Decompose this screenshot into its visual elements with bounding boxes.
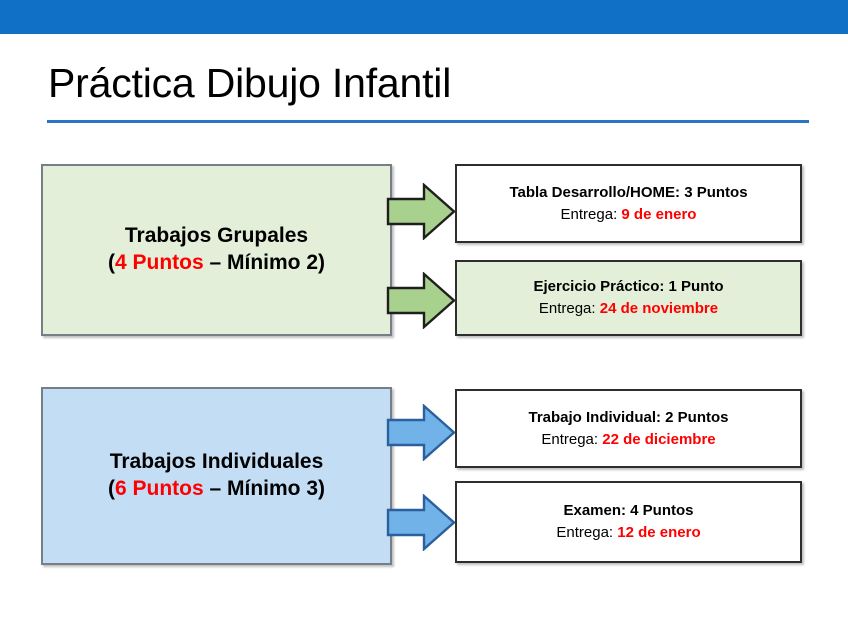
- delivery-label: Entrega:: [556, 524, 617, 541]
- task-title: Examen: 4 Puntos: [563, 500, 693, 522]
- delivery-date: 22 de diciembre: [602, 431, 715, 448]
- task-title: Ejercicio Práctico: 1 Punto: [533, 276, 723, 298]
- slide-canvas: Práctica Dibujo Infantil Trabajos Grupal…: [0, 0, 848, 636]
- arrow-individuales-2: [386, 494, 456, 551]
- page-title: Práctica Dibujo Infantil: [48, 62, 808, 105]
- group-box-grupales[interactable]: Trabajos Grupales (4 Puntos – Mínimo 2): [41, 164, 392, 336]
- arrow-individuales-1: [386, 404, 456, 461]
- task-title: Trabajo Individual: 2 Puntos: [528, 407, 728, 429]
- task-delivery: Entrega: 24 de noviembre: [539, 298, 718, 320]
- task-delivery: Entrega: 22 de diciembre: [541, 429, 715, 451]
- points-value-individuales: 6 Puntos: [115, 477, 204, 500]
- points-value-grupales: 4 Puntos: [115, 251, 204, 274]
- task-delivery: Entrega: 12 de enero: [556, 522, 700, 544]
- arrow-grupales-2: [386, 272, 456, 329]
- delivery-date: 12 de enero: [617, 524, 700, 541]
- group-box-individuales-line1: Trabajos Individuales: [110, 449, 324, 476]
- group-box-grupales-line1: Trabajos Grupales: [125, 223, 308, 250]
- arrow-grupales-1: [386, 183, 456, 240]
- delivery-label: Entrega:: [561, 206, 622, 223]
- task-delivery: Entrega: 9 de enero: [561, 204, 697, 226]
- minimum-text-grupales: – Mínimo 2): [204, 251, 325, 274]
- top-accent-bar: [0, 0, 848, 34]
- group-box-individuales[interactable]: Trabajos Individuales (6 Puntos – Mínimo…: [41, 387, 392, 565]
- delivery-date: 24 de noviembre: [600, 300, 718, 317]
- title-underline-rule: [47, 120, 809, 123]
- task-card-trabajo-individual[interactable]: Trabajo Individual: 2 Puntos Entrega: 22…: [455, 389, 802, 468]
- task-title: Tabla Desarrollo/HOME: 3 Puntos: [509, 182, 747, 204]
- delivery-label: Entrega:: [539, 300, 600, 317]
- group-box-grupales-line2: (4 Puntos – Mínimo 2): [108, 250, 325, 277]
- task-card-examen[interactable]: Examen: 4 Puntos Entrega: 12 de enero: [455, 481, 802, 563]
- paren-open: (: [108, 251, 115, 274]
- delivery-date: 9 de enero: [621, 206, 696, 223]
- task-card-tabla-desarrollo[interactable]: Tabla Desarrollo/HOME: 3 Puntos Entrega:…: [455, 164, 802, 243]
- delivery-label: Entrega:: [541, 431, 602, 448]
- minimum-text-individuales: – Mínimo 3): [204, 477, 325, 500]
- paren-open: (: [108, 477, 115, 500]
- task-card-ejercicio-practico[interactable]: Ejercicio Práctico: 1 Punto Entrega: 24 …: [455, 260, 802, 336]
- group-box-individuales-line2: (6 Puntos – Mínimo 3): [108, 476, 325, 503]
